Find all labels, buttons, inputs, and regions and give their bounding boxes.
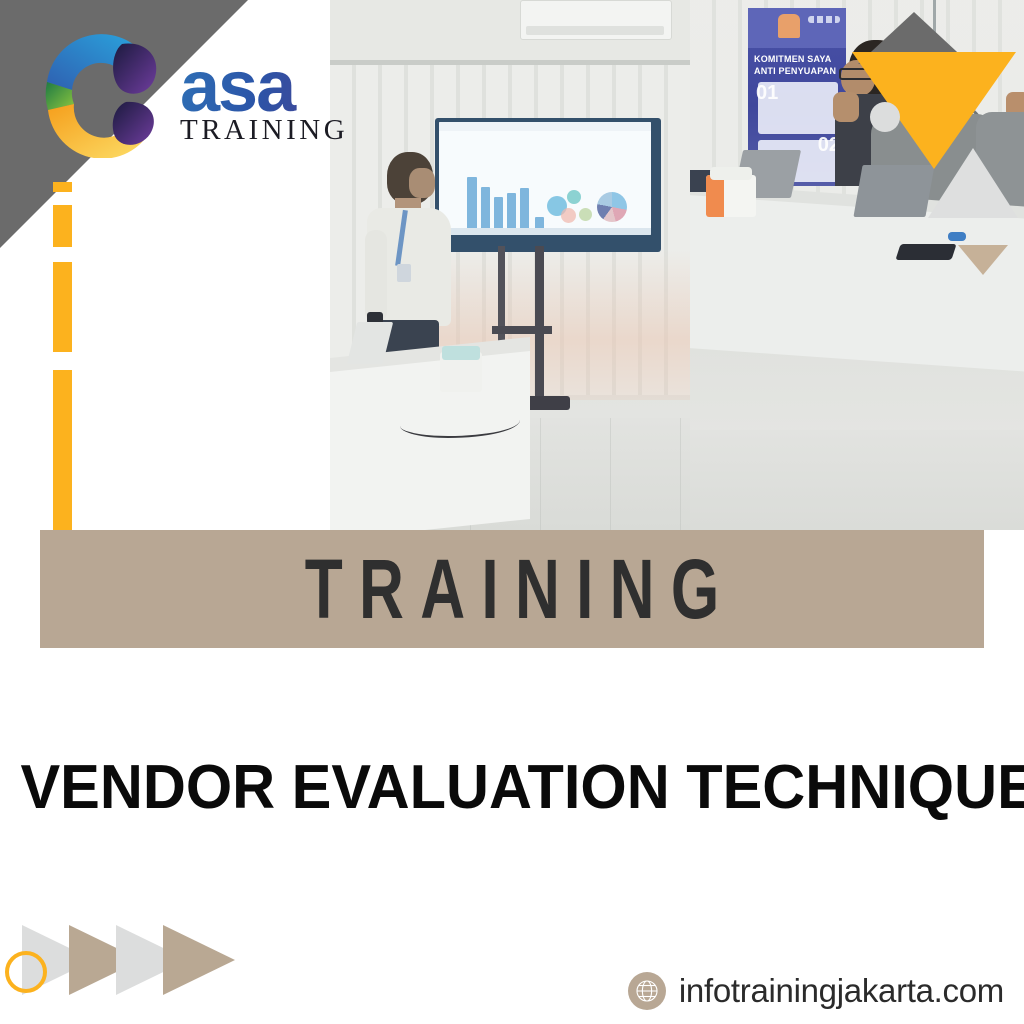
tissue-box-top xyxy=(710,167,752,180)
standee-step-1: 01 xyxy=(756,82,778,105)
hand-illustration-icon xyxy=(778,14,800,38)
chart-bar xyxy=(467,177,477,235)
bubble-point xyxy=(561,208,576,223)
display-screen xyxy=(439,122,651,235)
logo-subtitle: TRAINING xyxy=(180,114,348,147)
standee-line1: KOMITMEN SAYA xyxy=(754,54,844,65)
logo-word: asa xyxy=(180,56,348,118)
training-banner: TRAINING xyxy=(40,530,984,648)
smartphone xyxy=(895,244,956,260)
triangle-tan-down-icon xyxy=(958,245,1008,275)
casa-logo: asa TRAINING xyxy=(30,18,350,158)
standee-header xyxy=(748,8,846,48)
accent-dash xyxy=(53,182,72,192)
tissue-box-top xyxy=(442,346,480,360)
floor-right xyxy=(690,430,1024,530)
bubble-point xyxy=(567,190,581,204)
casa-wordmark: asa TRAINING xyxy=(180,56,348,147)
screen-toolbar xyxy=(439,122,651,131)
website-url[interactable]: infotrainingjakarta.com xyxy=(679,972,1004,1010)
chevron-arrow-icon xyxy=(163,925,235,995)
website-footer[interactable]: infotrainingjakarta.com xyxy=(628,972,1004,1010)
standee-dots xyxy=(808,16,840,23)
bubble-point xyxy=(579,208,592,221)
laptop xyxy=(853,165,934,217)
training-banner-label: TRAINING xyxy=(163,530,862,648)
circle-outline-icon xyxy=(5,951,47,993)
ac-vent xyxy=(526,26,664,35)
display-stand-shelf xyxy=(492,326,552,334)
accent-dash xyxy=(53,262,72,352)
tissue-box-accent xyxy=(706,175,724,217)
presentation-display xyxy=(435,118,661,252)
accent-dash xyxy=(53,205,72,247)
pie-chart xyxy=(597,192,627,222)
circle-light-gray-icon xyxy=(870,102,900,132)
poster-canvas: KOMITMEN SAYA ANTI PENYUAPAN 01 02 xyxy=(0,0,1024,1024)
triangle-white-up-icon xyxy=(928,148,1018,218)
pen xyxy=(948,232,966,241)
globe-icon xyxy=(628,972,666,1010)
casa-circle-logo-icon xyxy=(30,18,180,158)
page-title: VENDOR EVALUATION TECHNIQUES xyxy=(20,752,1003,823)
screen-taskbar xyxy=(439,228,651,235)
standee-line2: ANTI PENYUAPAN xyxy=(754,66,844,77)
